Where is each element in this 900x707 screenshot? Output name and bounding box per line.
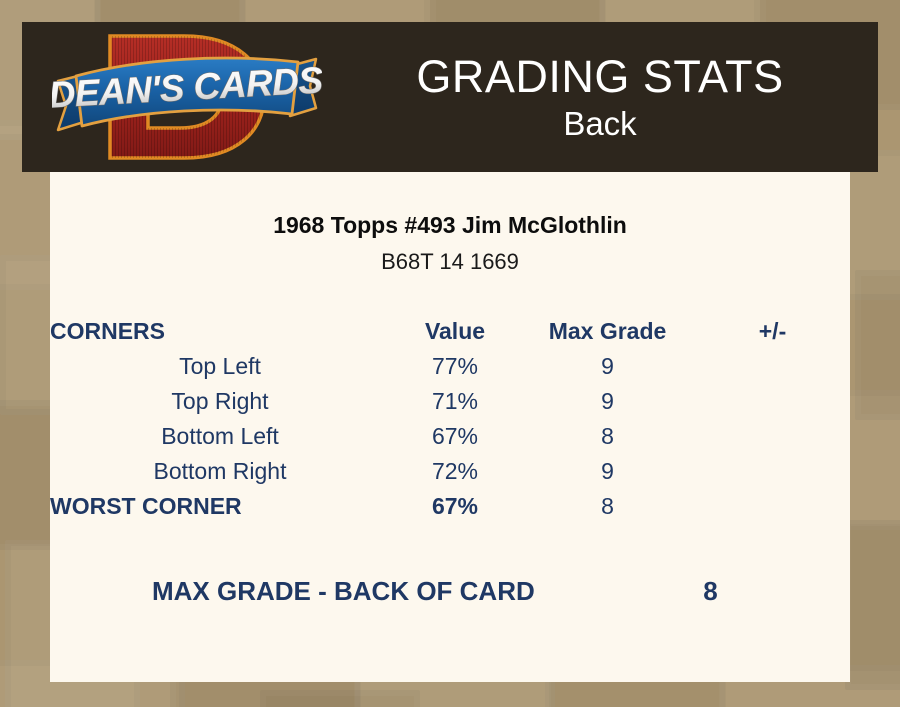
table-row: Top Left 77% 9 [50, 349, 850, 384]
table-row-worst-corner: WORST CORNER 67% 8 [50, 489, 850, 524]
row-plus-minus [695, 454, 850, 489]
card-title: 1968 Topps #493 Jim McGlothlin [50, 210, 850, 240]
column-header-value: Value [390, 314, 520, 349]
column-header-max-grade: Max Grade [520, 314, 695, 349]
row-max-grade: 8 [520, 489, 695, 524]
row-max-grade: 9 [520, 384, 695, 419]
row-value: 77% [390, 349, 520, 384]
max-grade-label: MAX GRADE - BACK OF CARD [50, 576, 535, 607]
row-label: Bottom Left [50, 419, 390, 454]
row-value: 72% [390, 454, 520, 489]
table-row: Top Right 71% 9 [50, 384, 850, 419]
background-card-shape [260, 690, 420, 707]
table-row: Bottom Right 72% 9 [50, 454, 850, 489]
page-title: GRADING STATS [416, 50, 783, 104]
max-grade-summary-row: MAX GRADE - BACK OF CARD 8 [50, 576, 850, 607]
card-subtitle: B68T 14 1669 [50, 248, 850, 276]
row-label: Bottom Right [50, 454, 390, 489]
row-plus-minus [695, 349, 850, 384]
row-plus-minus [695, 384, 850, 419]
row-label: Top Right [50, 384, 390, 419]
column-header-corners: CORNERS [50, 314, 390, 349]
logo-ribbon: DEAN'S CARDS [52, 58, 322, 130]
column-header-plus-minus: +/- [695, 314, 850, 349]
row-plus-minus [695, 489, 850, 524]
deans-cards-logo: DEAN'S CARDS [52, 26, 322, 168]
max-grade-value: 8 [623, 576, 850, 607]
row-label: WORST CORNER [50, 489, 390, 524]
row-value: 71% [390, 384, 520, 419]
row-value: 67% [390, 489, 520, 524]
row-label: Top Left [50, 349, 390, 384]
content-panel: 1968 Topps #493 Jim McGlothlin B68T 14 1… [50, 172, 850, 682]
row-max-grade: 9 [520, 454, 695, 489]
row-value: 67% [390, 419, 520, 454]
row-max-grade: 9 [520, 349, 695, 384]
page-subtitle: Back [563, 104, 636, 144]
row-max-grade: 8 [520, 419, 695, 454]
table-header-row: CORNERS Value Max Grade +/- [50, 314, 850, 349]
header-bar: DEAN'S CARDS GRADING STATS Back [22, 22, 878, 172]
row-plus-minus [695, 419, 850, 454]
header-titles: GRADING STATS Back [322, 22, 878, 172]
grading-stats-table: CORNERS Value Max Grade +/- Top Left 77%… [50, 314, 850, 524]
table-row: Bottom Left 67% 8 [50, 419, 850, 454]
